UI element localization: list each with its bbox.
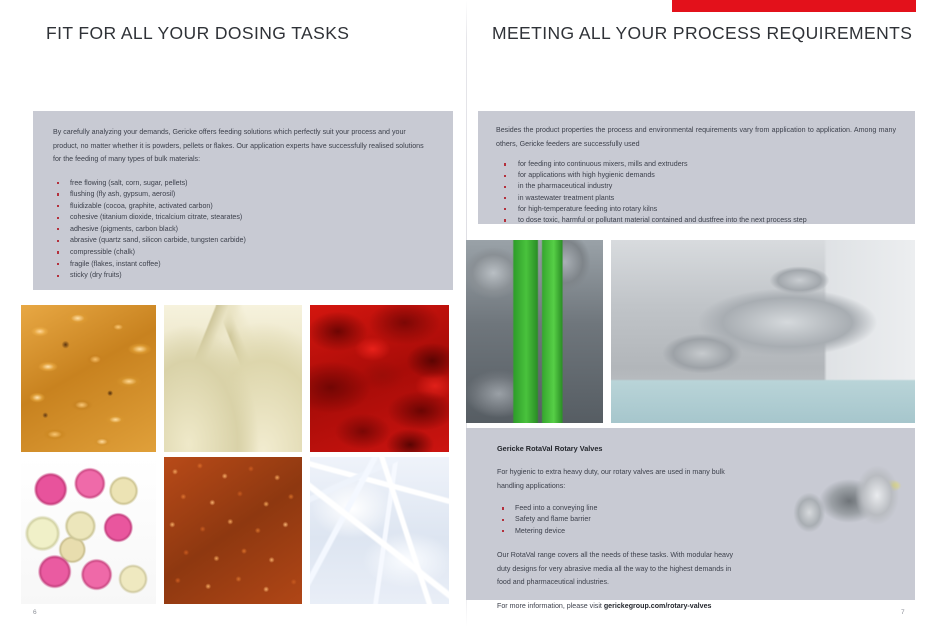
page-number-left: 6 — [33, 609, 37, 616]
list-item: for feeding into continuous mixers, mill… — [496, 159, 897, 170]
list-item: in wastewater treatment plants — [496, 193, 897, 204]
bulk-materials-list: free flowing (salt, corn, sugar, pellets… — [53, 178, 433, 282]
rotaval-title: Gericke RotaVal Rotary Valves — [497, 444, 915, 453]
orange-granules-photo — [164, 457, 302, 604]
white-crystals-photo — [310, 457, 449, 604]
process-plant-photo — [466, 240, 603, 423]
rotaval-summary: Our RotaVal range covers all the needs o… — [497, 549, 735, 590]
list-item: to dose toxic, harmful or pollutant mate… — [496, 215, 897, 226]
brochure-spread: FIT FOR ALL YOUR DOSING TASKS By careful… — [0, 0, 940, 627]
right-intro-panel: Besides the product properties the proce… — [478, 111, 915, 224]
pink-tablets-photo — [21, 457, 156, 604]
list-item: fluidizable (cocoa, graphite, activated … — [53, 201, 433, 213]
list-item: free flowing (salt, corn, sugar, pellets… — [53, 178, 433, 190]
right-intro-paragraph: Besides the product properties the proce… — [496, 124, 896, 151]
left-intro-paragraph: By carefully analyzing your demands, Ger… — [53, 126, 426, 167]
red-accent-bar — [672, 0, 916, 12]
list-item: in the pharmaceutical industry — [496, 181, 897, 192]
corn-flakes-photo — [21, 305, 156, 452]
beige-powder-photo — [164, 305, 302, 452]
list-item: cohesive (titanium dioxide, tricalcium c… — [53, 212, 433, 224]
left-intro-panel: By carefully analyzing your demands, Ger… — [33, 111, 453, 290]
rotary-valve-product-photo — [780, 453, 913, 549]
list-item: compressible (chalk) — [53, 247, 433, 259]
applications-list: for feeding into continuous mixers, mill… — [496, 159, 897, 226]
rotaval-cta-prefix: For more information, please visit — [497, 602, 604, 610]
page-number-right: 7 — [901, 609, 905, 616]
rotaval-website-link[interactable]: gerickegroup.com/rotary-valves — [604, 602, 712, 610]
red-pigment-powder-photo — [310, 305, 449, 452]
right-page-heading: MEETING ALL YOUR PROCESS REQUIREMENTS — [492, 23, 912, 44]
list-item: abrasive (quartz sand, silicon carbide, … — [53, 235, 433, 247]
rotaval-intro: For hygienic to extra heavy duty, our ro… — [497, 466, 735, 493]
left-page-heading: FIT FOR ALL YOUR DOSING TASKS — [46, 23, 349, 44]
list-item: fragile (flakes, instant coffee) — [53, 259, 433, 271]
industrial-mixer-photo — [611, 240, 915, 423]
list-item: sticky (dry fruits) — [53, 270, 433, 282]
list-item: flushing (fly ash, gypsum, aerosil) — [53, 189, 433, 201]
rotaval-cta: For more information, please visit geric… — [497, 600, 735, 614]
list-item: adhesive (pigments, carbon black) — [53, 224, 433, 236]
list-item: for applications with high hygienic dema… — [496, 170, 897, 181]
list-item: for high-temperature feeding into rotary… — [496, 204, 897, 215]
